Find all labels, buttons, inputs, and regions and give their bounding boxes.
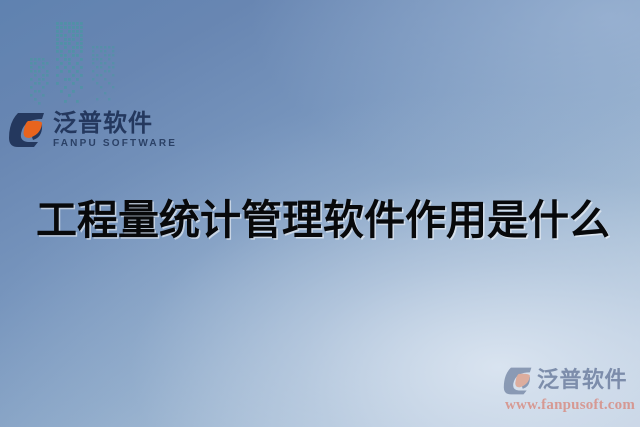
brand-name-en: FANPU SOFTWARE xyxy=(53,139,177,149)
watermark-logo-row: 泛普软件 xyxy=(503,366,637,396)
fanpu-logo-mark-icon xyxy=(503,366,533,396)
brand-logo-text: 泛普软件 FANPU SOFTWARE xyxy=(53,111,177,149)
page-title: 工程量统计管理软件作用是什么 xyxy=(36,186,616,246)
brand-name-cn: 泛普软件 xyxy=(53,111,177,135)
brand-logo: 泛普软件 FANPU SOFTWARE xyxy=(8,111,177,149)
pixel-mosaic-graphic xyxy=(30,16,122,106)
promo-banner: 泛普软件 FANPU SOFTWARE 工程量统计管理软件作用是什么 泛普软件 … xyxy=(0,0,640,427)
site-watermark: 泛普软件 www.fanpusoft.com xyxy=(503,366,637,413)
watermark-brand-cn: 泛普软件 xyxy=(537,370,627,392)
fanpu-logo-mark-icon xyxy=(8,111,46,149)
watermark-url: www.fanpusoft.com xyxy=(503,398,637,413)
